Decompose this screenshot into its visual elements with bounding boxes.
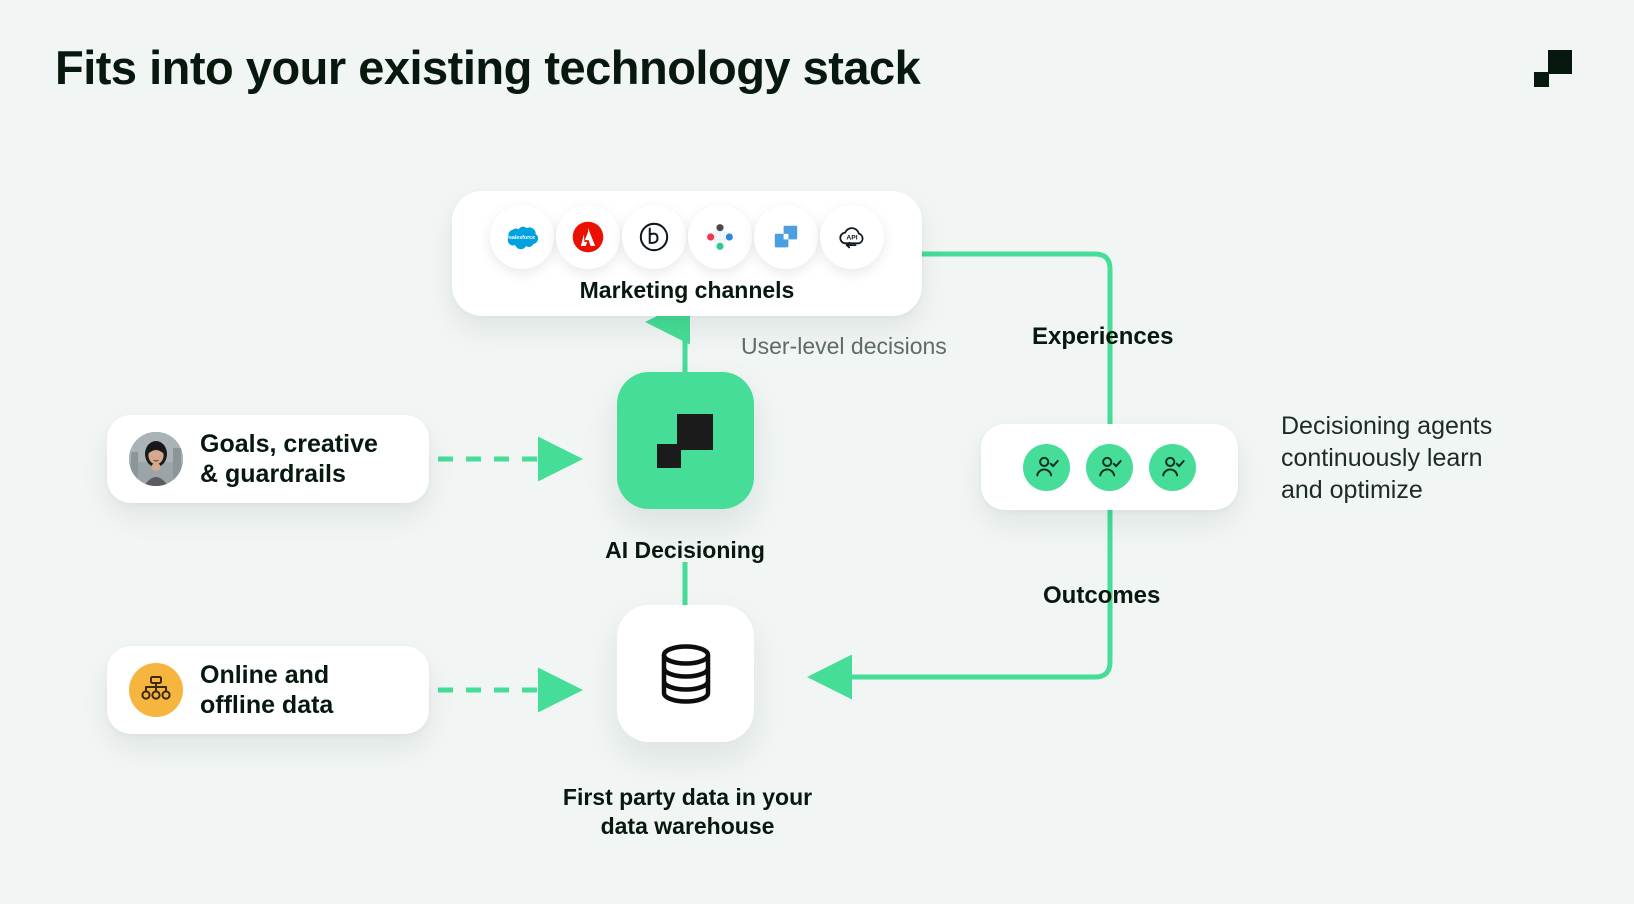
- side-note-decisioning-agents: Decisioning agents continuously learn an…: [1281, 410, 1581, 506]
- agent-user-check-icon-1[interactable]: [1023, 444, 1070, 491]
- company-logo-icon: [1532, 48, 1574, 90]
- label-user-level-decisions: User-level decisions: [741, 333, 947, 360]
- goals-label-line2: & guardrails: [200, 459, 378, 490]
- input-card-data[interactable]: Online and offline data: [107, 646, 429, 734]
- adobe-icon[interactable]: [556, 205, 620, 269]
- agent-user-check-icon-3[interactable]: [1149, 444, 1196, 491]
- database-icon: [649, 637, 723, 711]
- side-note-line1: Decisioning agents: [1281, 410, 1581, 442]
- label-outcomes: Outcomes: [1043, 582, 1160, 610]
- svg-text:salesforce: salesforce: [509, 235, 535, 241]
- ai-decisioning-caption: AI Decisioning: [530, 536, 840, 565]
- data-warehouse-caption-line2: data warehouse: [505, 812, 870, 841]
- channel-icon-row: salesforce: [489, 205, 885, 269]
- braze-icon[interactable]: [622, 205, 686, 269]
- blue-squares-icon[interactable]: [754, 205, 818, 269]
- side-note-line2: continuously learn: [1281, 442, 1581, 474]
- input-card-data-label: Online and offline data: [200, 660, 333, 721]
- page-title: Fits into your existing technology stack: [55, 40, 920, 95]
- marketing-channels-card[interactable]: salesforce: [452, 191, 922, 316]
- api-cloud-icon[interactable]: API: [820, 205, 884, 269]
- two-squares-logo-icon: [651, 406, 721, 476]
- marketing-channels-label: Marketing channels: [580, 277, 795, 304]
- svg-text:API: API: [846, 235, 857, 242]
- agent-user-check-icon-2[interactable]: [1086, 444, 1133, 491]
- sitemap-hierarchy-icon: [129, 663, 183, 717]
- data-label-line2: offline data: [200, 690, 333, 721]
- data-warehouse-node[interactable]: [617, 605, 754, 742]
- data-warehouse-caption-line1: First party data in your: [505, 783, 870, 812]
- side-note-line3: and optimize: [1281, 474, 1581, 506]
- input-card-goals[interactable]: Goals, creative & guardrails: [107, 415, 429, 503]
- goals-label-line1: Goals, creative: [200, 429, 378, 460]
- data-warehouse-caption: First party data in your data warehouse: [505, 783, 870, 842]
- label-experiences: Experiences: [1032, 323, 1173, 351]
- salesforce-icon[interactable]: salesforce: [490, 205, 554, 269]
- diagram-canvas: Fits into your existing technology stack: [0, 0, 1634, 904]
- ai-decisioning-node[interactable]: [617, 372, 754, 509]
- segment-diamond-icon[interactable]: [688, 205, 752, 269]
- person-photo-avatar: [129, 432, 183, 486]
- data-label-line1: Online and: [200, 660, 333, 691]
- decisioning-agents-card[interactable]: [981, 424, 1238, 510]
- input-card-goals-label: Goals, creative & guardrails: [200, 429, 378, 490]
